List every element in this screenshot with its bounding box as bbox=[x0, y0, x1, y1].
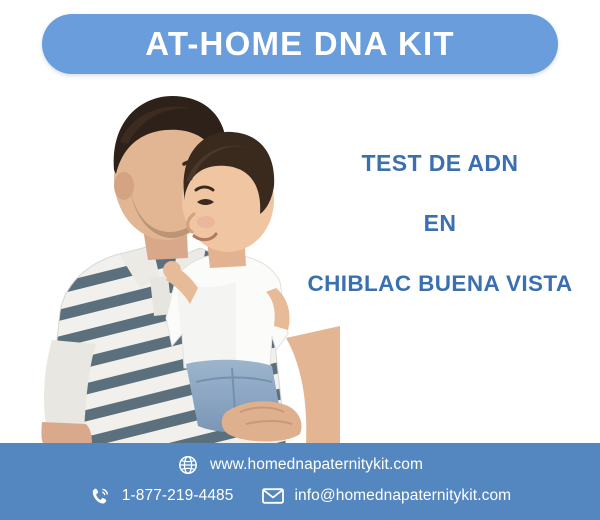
website-contact-item[interactable]: www.homednapaternitykit.com bbox=[177, 454, 423, 476]
email-contact-item[interactable]: info@homednapaternitykit.com bbox=[262, 485, 512, 507]
envelope-icon bbox=[262, 485, 284, 507]
website-label: www.homednapaternitykit.com bbox=[210, 456, 423, 474]
globe-icon bbox=[177, 454, 199, 476]
poster-canvas: AT-HOME DNA KIT bbox=[0, 0, 600, 520]
footer-row-website: www.homednapaternitykit.com bbox=[0, 454, 600, 476]
family-photo-illustration bbox=[0, 82, 340, 444]
title-banner: AT-HOME DNA KIT bbox=[42, 14, 558, 74]
phone-contact-item[interactable]: 1-877-219-4485 bbox=[89, 485, 234, 507]
family-photo bbox=[0, 82, 340, 444]
headline-line-1: TEST DE ADN bbox=[290, 150, 590, 176]
headline-line-3: CHIBLAC BUENA VISTA bbox=[290, 271, 590, 297]
footer-row-phone-email: 1-877-219-4485 info@homednapaternitykit.… bbox=[0, 485, 600, 507]
title-banner-text: AT-HOME DNA KIT bbox=[145, 25, 454, 63]
footer-contact-bar: www.homednapaternitykit.com 1-877-219-44… bbox=[0, 443, 600, 520]
headline-line-2: EN bbox=[290, 210, 590, 236]
headline-block: TEST DE ADN EN CHIBLAC BUENA VISTA bbox=[290, 150, 590, 297]
phone-icon bbox=[89, 485, 111, 507]
email-label: info@homednapaternitykit.com bbox=[295, 487, 512, 505]
phone-label: 1-877-219-4485 bbox=[122, 487, 234, 505]
